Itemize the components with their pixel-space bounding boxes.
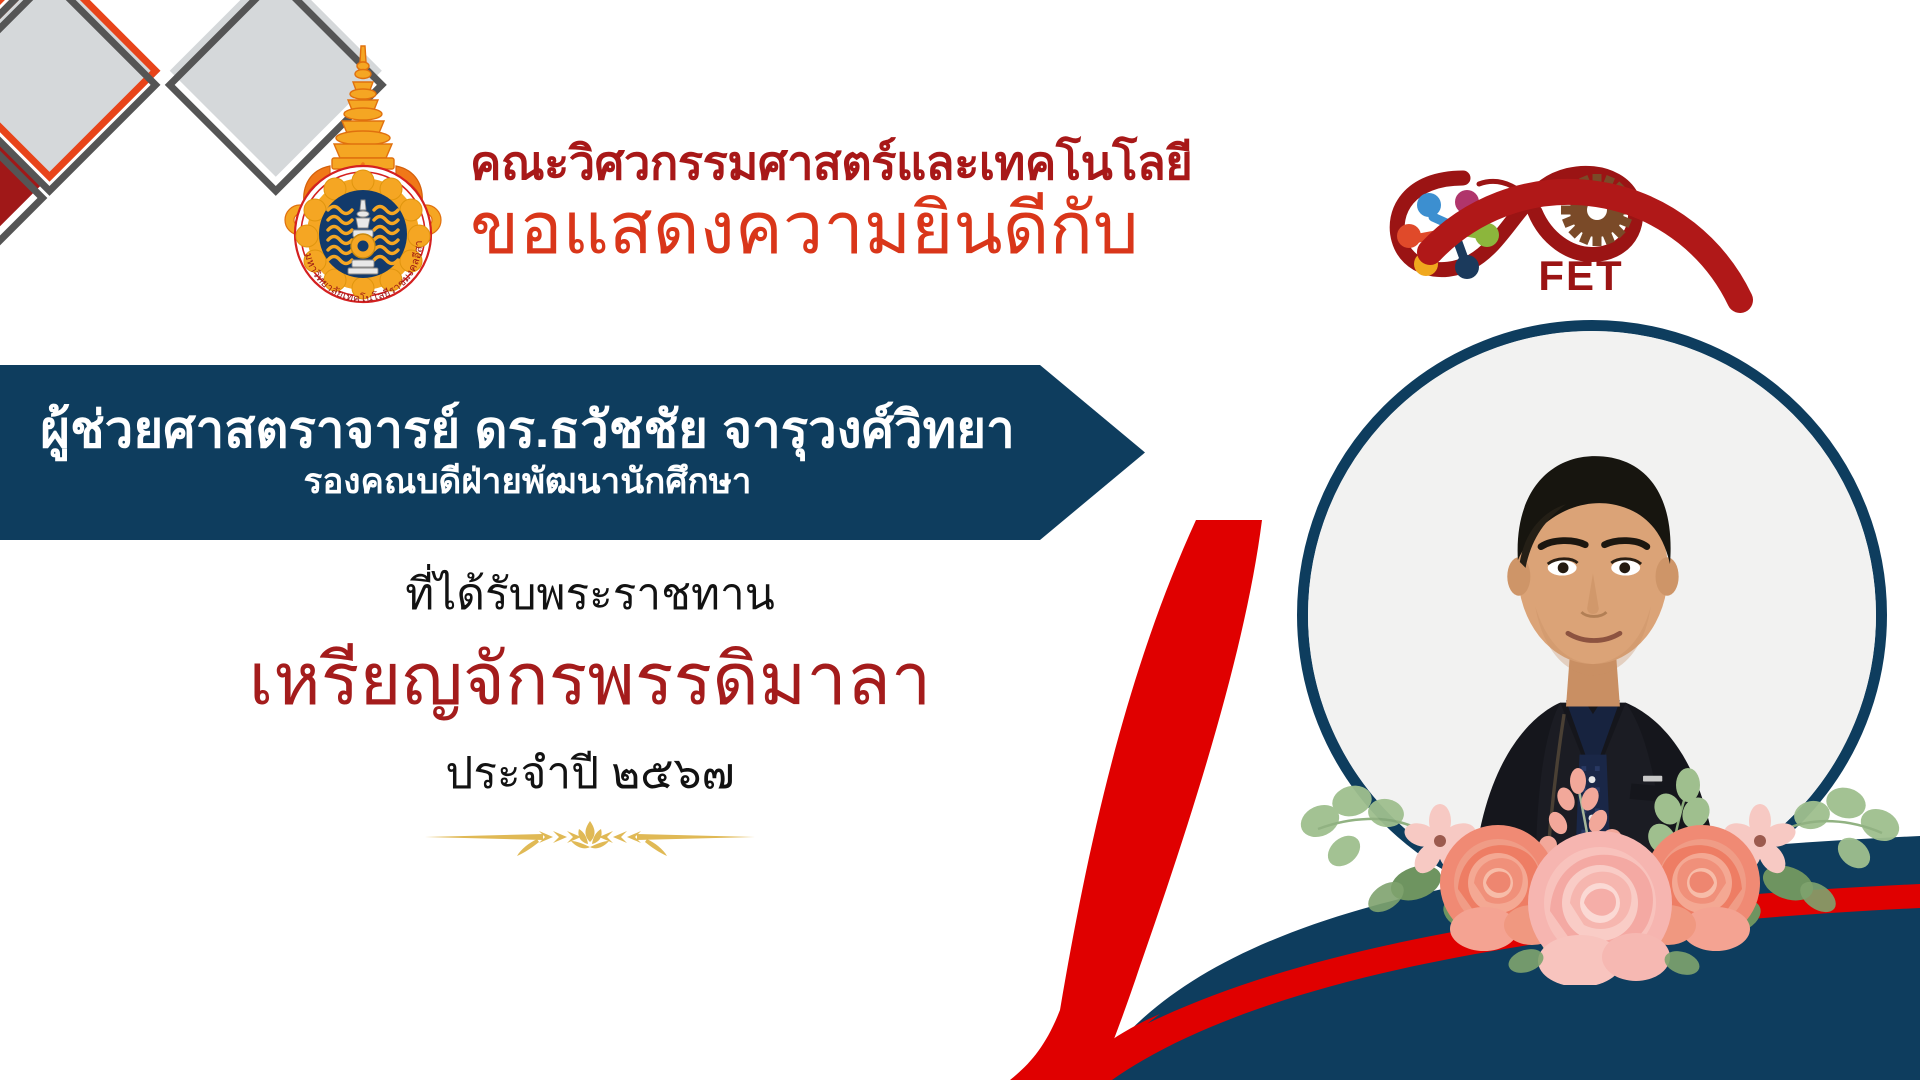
gear-icon [1561, 174, 1633, 246]
fet-faculty-logo: FET [1385, 150, 1655, 310]
rose-bouquet-decoration [1290, 755, 1910, 985]
university-emblem-rmuti: มหาวิทยาลัยเทคโนโลยีราชมงคลอีสาน [258, 38, 468, 318]
fet-label: FET [1538, 252, 1623, 299]
award-text-block: ที่ได้รับพระราชทาน เหรียญจักรพรรดิมาลา ป… [60, 565, 1120, 865]
name-banner: ผู้ช่วยศาสตราจารย์ ดร.ธวัชชัย จารุวงศ์วิ… [0, 365, 1145, 540]
person-role: รองคณบดีฝ่ายพัฒนานักศึกษา [304, 460, 752, 504]
award-intro-text: ที่ได้รับพระราชทาน [60, 565, 1120, 624]
congratulations-banner: มหาวิทยาลัยเทคโนโลยีราชมงคลอีสาน คณะวิศว… [0, 0, 1920, 1080]
congratulations-heading: ขอแสดงความยินดีกับ [470, 188, 1390, 271]
rose-center [1528, 831, 1672, 985]
award-year: ประจำปี ๒๕๖๗ [60, 744, 1120, 803]
person-name: ผู้ช่วยศาสตราจารย์ ดร.ธวัชชัย จารุวงศ์วิ… [40, 401, 1015, 458]
gold-ornament-divider [425, 819, 755, 865]
award-medal-name: เหรียญจักรพรรดิมาลา [60, 634, 1120, 728]
